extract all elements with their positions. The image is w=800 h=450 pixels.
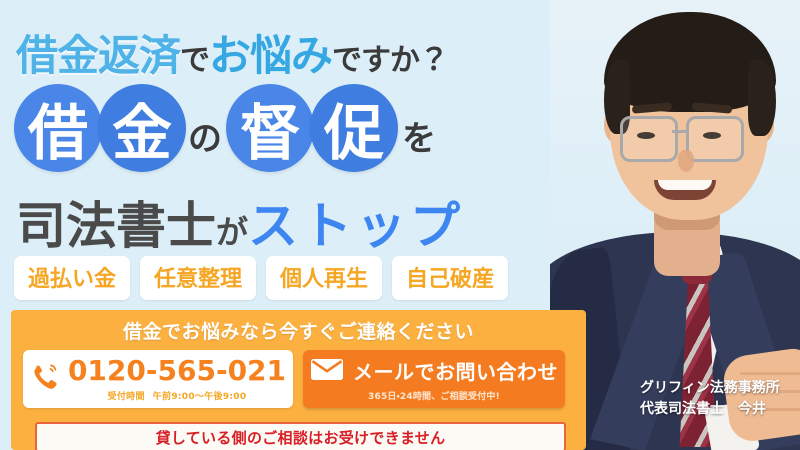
headline-line-2: 借 金 の 督 促 を: [14, 84, 436, 172]
representative-role: 代表司法書士: [640, 401, 724, 417]
service-tag-bankruptcy[interactable]: 自己破産: [392, 256, 508, 300]
eyeglasses-lens-left: [620, 116, 678, 162]
firm-credit: グリフィン法務事務所 代表司法書士今井: [640, 378, 780, 420]
particle-no: の: [188, 111, 222, 160]
headline-line3-part-c: ストップ: [248, 197, 464, 255]
headline-line1-part-d: ですか？: [332, 43, 448, 78]
contact-panel-title: 借金でお悩みなら今すぐご連絡ください: [11, 310, 586, 344]
email-button-main: メールでお問い合わせ: [310, 356, 558, 385]
headline-line3-part-b: が: [216, 213, 248, 251]
teeth: [658, 180, 712, 190]
headline-line-1: 借金返済でお悩みですか？: [16, 22, 448, 83]
knuckle-line: [740, 372, 800, 375]
particle-wo: を: [402, 111, 436, 160]
phone-hours-label: 受付時間: [108, 392, 145, 402]
representative-name: 今井: [738, 401, 766, 417]
service-tag-list: 過払い金 任意整理 個人再生 自己破産: [14, 256, 508, 300]
eyeglasses-lens-right: [686, 116, 744, 162]
contact-panel: 借金でお悩みなら今すぐご連絡ください 0120-565-021 受付時間午前9:…: [11, 310, 586, 450]
circle-char-2: 金: [98, 84, 186, 172]
email-button-label: メールでお問い合わせ: [353, 356, 558, 385]
headline-line-3: 司法書士がストップ: [16, 186, 464, 258]
envelope-icon: [310, 357, 344, 385]
service-tag-personal-rehabilitation[interactable]: 個人再生: [266, 256, 382, 300]
headline-line1-part-c: お悩み: [209, 31, 332, 80]
phone-hours-value: 午前9:00〜午後9:00: [153, 392, 247, 402]
ringing-phone-icon: [30, 362, 60, 396]
headline-line1-part-a: 借金返済: [16, 31, 180, 80]
ad-banner: 借金返済でお悩みですか？ 借 金 の 督 促 を 司法書士がストップ 過払い金 …: [0, 0, 800, 450]
phone-number: 0120-565-021: [68, 357, 286, 385]
firm-name: グリフィン法務事務所: [640, 378, 780, 399]
representative-line: 代表司法書士今井: [640, 399, 780, 420]
headline-line1-part-b: で: [180, 43, 209, 78]
email-button-sub: 365日・24時間、ご相談受付中!: [368, 389, 500, 402]
email-inquiry-button[interactable]: メールでお問い合わせ 365日・24時間、ご相談受付中!: [303, 350, 565, 408]
disclaimer-text: 貸している側のご相談はお受けできません: [156, 427, 446, 448]
service-tag-overpayment[interactable]: 過払い金: [14, 256, 130, 300]
phone-text-group: 0120-565-021 受付時間午前9:00〜午後9:00: [68, 357, 286, 402]
disclaimer-notice: 貸している側のご相談はお受けできません: [35, 422, 566, 450]
nose: [678, 150, 694, 172]
contact-actions-row: 0120-565-021 受付時間午前9:00〜午後9:00 メールでお問い合わ…: [23, 350, 565, 408]
service-tag-voluntary-arrangement[interactable]: 任意整理: [140, 256, 256, 300]
circle-char-3: 督: [226, 84, 314, 172]
circle-char-4: 促: [310, 84, 398, 172]
circle-char-1: 借: [14, 84, 102, 172]
phone-hours: 受付時間午前9:00〜午後9:00: [108, 389, 247, 402]
phone-call-button[interactable]: 0120-565-021 受付時間午前9:00〜午後9:00: [23, 350, 293, 408]
headline-line3-part-a: 司法書士: [16, 197, 216, 255]
eyeglasses-bridge: [672, 130, 686, 133]
